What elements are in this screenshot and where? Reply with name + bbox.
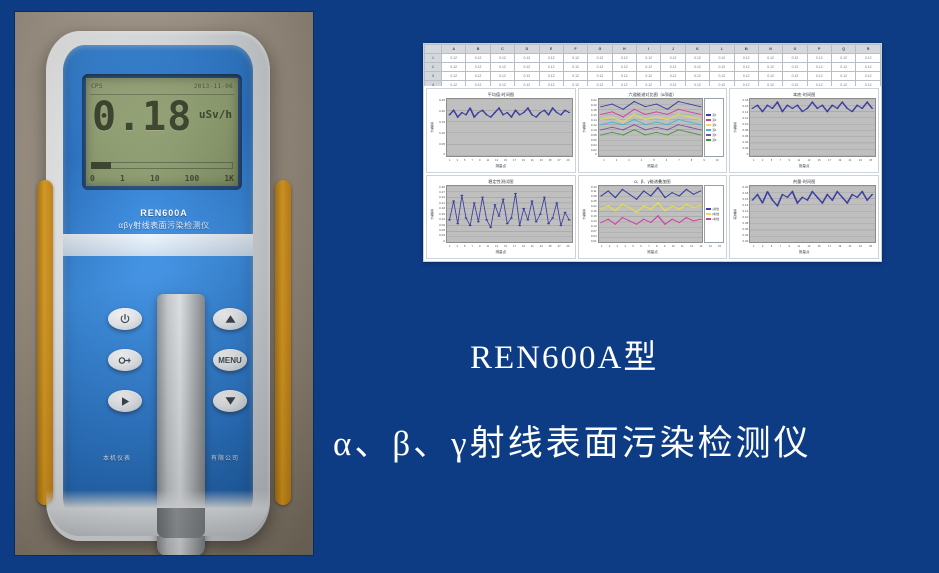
chart-legend-item: 道2: [706, 118, 722, 122]
spreadsheet-cell[interactable]: 0.12: [710, 72, 734, 81]
spreadsheet-cell[interactable]: 0.12: [685, 63, 709, 72]
caption-model: REN600A型: [470, 330, 900, 378]
chart-data-point: [836, 191, 838, 192]
spreadsheet-col-header[interactable]: L: [710, 45, 734, 54]
spreadsheet-col-header[interactable]: A: [442, 45, 466, 54]
chart-y-tick: 0.10: [587, 224, 597, 228]
chart-y-tick: 0.14: [738, 203, 748, 207]
chart-y-tick: 0.22: [587, 204, 597, 208]
chart-y-tick: 0.02: [738, 146, 748, 150]
spreadsheet-row-header[interactable]: 3: [425, 72, 442, 81]
spreadsheet-cell[interactable]: 0.12: [515, 72, 539, 81]
spreadsheet-cell[interactable]: 0.12: [490, 81, 514, 87]
spreadsheet-cell[interactable]: 0.12: [539, 81, 563, 87]
chart-y-tick: 0.04: [587, 143, 597, 147]
chart-data-point: [822, 105, 824, 106]
chart-data-point: [699, 124, 701, 125]
chart-data-point: [490, 117, 492, 118]
spreadsheet-cell[interactable]: 0.12: [563, 63, 587, 72]
chart-data-point: [692, 193, 694, 194]
down-button[interactable]: [213, 390, 247, 412]
play-button[interactable]: [108, 390, 142, 412]
spreadsheet-cell[interactable]: 0.12: [466, 63, 490, 72]
chart-y-tick: 0.14: [738, 110, 748, 114]
spreadsheet-cell[interactable]: 0.12: [807, 72, 831, 81]
chart-data-point: [685, 203, 687, 204]
chart-y-tick: 0.06: [435, 228, 445, 232]
chart-y-tick: 0.12: [435, 217, 445, 221]
chart-panel: 稳定性测试图计数率0.300.270.240.210.180.150.120.0…: [426, 175, 576, 260]
chart-y-tick: 0.09: [435, 223, 445, 227]
chart-x-tick: 1: [449, 159, 450, 162]
chart-title: 平均值-时间图: [429, 91, 573, 98]
spreadsheet-col-header[interactable]: H: [612, 45, 636, 54]
spreadsheet-cell[interactable]: 0.12: [637, 54, 661, 63]
chart-y-tick: 0.30: [435, 185, 445, 189]
spreadsheet-col-header[interactable]: N: [758, 45, 782, 54]
chart-y-tick: 0.02: [587, 148, 597, 152]
spreadsheet-cell[interactable]: 0.12: [515, 63, 539, 72]
spreadsheet-cell[interactable]: 0.12: [563, 72, 587, 81]
spreadsheet-cell[interactable]: 0.12: [637, 63, 661, 72]
spreadsheet-cell[interactable]: 0.12: [539, 54, 563, 63]
spreadsheet-table: ABCDEFGHIJKLMNOPQR10.120.120.120.120.120…: [424, 44, 881, 86]
chart-x-axis-label: 测量点: [581, 250, 725, 256]
chart-data-point: [543, 110, 545, 111]
chart-data-point: [628, 220, 630, 221]
chart-x-tick: 21: [849, 159, 852, 162]
chart-y-tick: 0.22: [587, 98, 597, 102]
chart-legend-item: γ射线: [706, 207, 722, 211]
chart-data-point: [861, 108, 863, 109]
chart-y-axis-label: 计数率: [732, 98, 738, 157]
spreadsheet-col-header[interactable]: O: [783, 45, 807, 54]
chart-y-tick: 0.28: [587, 194, 597, 198]
spreadsheet-cell[interactable]: 0.12: [612, 54, 636, 63]
spreadsheet-cell[interactable]: 0.12: [637, 81, 661, 87]
chart-data-point: [633, 109, 635, 110]
chart-series-line: [753, 102, 873, 111]
spreadsheet-cell[interactable]: 0.12: [832, 63, 856, 72]
spreadsheet-cell[interactable]: 0.12: [442, 54, 466, 63]
spreadsheet-cell[interactable]: 0.12: [685, 72, 709, 81]
spreadsheet-col-header[interactable]: K: [685, 45, 709, 54]
spreadsheet-cell[interactable]: 0.12: [710, 63, 734, 72]
chart-data-point: [614, 197, 616, 198]
spreadsheet-corner: [425, 45, 442, 54]
spreadsheet-cell[interactable]: 0.12: [661, 81, 685, 87]
chart-data-point: [678, 208, 680, 209]
chart-data-point: [757, 193, 759, 194]
chart-y-tick: 0.10: [738, 215, 748, 219]
spreadsheet-col-header[interactable]: E: [539, 45, 563, 54]
spreadsheet-cell[interactable]: 0.12: [588, 72, 612, 81]
search-button[interactable]: [108, 349, 142, 371]
chart-data-point: [655, 127, 657, 128]
chart-y-tick: 0.21: [435, 201, 445, 205]
chart-data-point: [807, 108, 809, 109]
spreadsheet-cell[interactable]: 0.12: [734, 72, 758, 81]
chart-y-tick: 0.08: [587, 133, 597, 137]
chart-data-point: [655, 111, 657, 112]
chart-x-tick: 17: [828, 159, 831, 162]
chart-legend-label: γ射线: [712, 207, 718, 211]
chart-y-tick: 0.10: [587, 128, 597, 132]
chart-data-point: [498, 108, 500, 109]
spreadsheet-cell[interactable]: 0.12: [661, 72, 685, 81]
chart-y-tick: 0.12: [587, 123, 597, 127]
spreadsheet-cell[interactable]: 0.12: [685, 81, 709, 87]
spreadsheet-cell[interactable]: 0.12: [490, 63, 514, 72]
chart-x-tick: 23: [540, 245, 543, 248]
chart-y-tick: 0.20: [435, 109, 445, 113]
chart-data-point: [762, 111, 764, 112]
chart-data-point: [635, 212, 637, 213]
spreadsheet-cell[interactable]: 0.12: [807, 63, 831, 72]
spreadsheet-row-header[interactable]: 1: [425, 54, 442, 63]
spreadsheet-cell[interactable]: 0.12: [466, 81, 490, 87]
chart-x-tick: 7: [678, 159, 679, 162]
chart-data-point: [452, 110, 454, 111]
chart-x-tick: 9: [479, 245, 480, 248]
chart-x-tick: 5: [653, 159, 654, 162]
triangle-up-icon: [224, 314, 237, 324]
chart-y-tick: 0.34: [587, 185, 597, 189]
chart-data-point: [607, 205, 609, 206]
chart-y-tick: 0: [435, 152, 445, 156]
spreadsheet-col-header[interactable]: C: [490, 45, 514, 54]
spreadsheet-cell[interactable]: 0.12: [442, 63, 466, 72]
lcd-date-label: 2013-11-06: [194, 83, 233, 90]
spreadsheet-col-header[interactable]: Q: [832, 45, 856, 54]
chart-legend-label: 道3: [712, 123, 716, 127]
chart-data-point: [633, 119, 635, 120]
chart-data-point: [752, 199, 754, 200]
chart-legend-swatch: [706, 139, 711, 142]
spreadsheet-cell[interactable]: 0.12: [515, 54, 539, 63]
chart-plot-area: [598, 185, 704, 244]
chart-y-tick: 0.18: [587, 108, 597, 112]
chart-data-point: [846, 108, 848, 109]
spreadsheet-row: 20.120.120.120.120.120.120.120.120.120.1…: [425, 63, 881, 72]
spreadsheet-cell[interactable]: 0.12: [734, 81, 758, 87]
spreadsheet-cell[interactable]: 0.12: [490, 54, 514, 63]
chart-data-point: [621, 188, 623, 189]
spreadsheet-row: 30.120.120.120.120.120.120.120.120.120.1…: [425, 72, 881, 81]
chart-legend-label: 道5: [712, 133, 716, 137]
power-button[interactable]: [108, 308, 142, 330]
spreadsheet-cell[interactable]: 0.12: [466, 54, 490, 63]
chart-x-tick: 9: [703, 159, 704, 162]
software-screenshot-panel: ABCDEFGHIJKLMNOPQR10.120.120.120.120.120…: [423, 43, 882, 262]
spreadsheet-cell[interactable]: 0.12: [588, 63, 612, 72]
chart-x-tick: 1: [601, 245, 602, 248]
chart-x-tick: 11: [681, 245, 684, 248]
device-subtitle-label: αβγ射线表面污染检测仪: [15, 220, 313, 231]
spreadsheet-cell[interactable]: 0.12: [661, 63, 685, 72]
chart-x-tick: 15: [818, 159, 821, 162]
chart-x-tick: 4: [624, 245, 625, 248]
spreadsheet-cell[interactable]: 0.12: [758, 63, 782, 72]
chart-y-tick: 0.18: [738, 191, 748, 195]
chart-data-point: [600, 208, 602, 209]
spreadsheet-row-header[interactable]: 2: [425, 63, 442, 72]
chart-data-point: [547, 114, 549, 115]
chart-data-point: [655, 122, 657, 123]
chart-data-point: [457, 117, 459, 118]
chart-series-line: [449, 193, 569, 227]
spreadsheet-cell[interactable]: 0.12: [710, 54, 734, 63]
spreadsheet-col-header[interactable]: I: [637, 45, 661, 54]
spreadsheet-cell[interactable]: 0.12: [442, 81, 466, 87]
chart-x-ticks: 12345678910: [598, 157, 725, 164]
spreadsheet-cell[interactable]: 0.12: [539, 72, 563, 81]
chart-x-tick: 25: [549, 245, 552, 248]
chart-data-point: [611, 104, 613, 105]
chart-legend-item: 道1: [706, 113, 722, 117]
spreadsheet-cell[interactable]: 0.12: [832, 72, 856, 81]
chart-data-point: [600, 124, 602, 125]
chart-x-tick: 13: [807, 245, 810, 248]
device-handle-foot: [157, 508, 205, 538]
chart-data-point: [787, 196, 789, 197]
chart-data-point: [841, 102, 843, 103]
chart-plot-area: [446, 98, 573, 157]
lcd-bargraph: [91, 162, 233, 169]
chart-data-point: [644, 119, 646, 120]
chart-data-point: [642, 205, 644, 206]
chart-data-point: [657, 215, 659, 216]
spreadsheet-col-header[interactable]: J: [661, 45, 685, 54]
chart-legend-label: 道1: [712, 113, 716, 117]
spreadsheet-col-header[interactable]: R: [856, 45, 881, 54]
spreadsheet-cell[interactable]: 0.12: [637, 72, 661, 81]
chart-x-tick: 1: [603, 159, 604, 162]
chart-body: 计数率0.300.270.240.210.180.150.120.090.060…: [429, 185, 573, 244]
chart-x-tick: 10: [672, 245, 675, 248]
spreadsheet-cell[interactable]: 0.12: [539, 63, 563, 72]
chart-data-point: [600, 134, 602, 135]
chart-y-tick: 0: [738, 152, 748, 156]
chart-legend-label: α射线: [712, 217, 719, 221]
chart-data-point: [699, 129, 701, 130]
chart-data-point: [622, 134, 624, 135]
chart-data-point: [671, 192, 673, 193]
triangle-down-icon: [224, 396, 237, 406]
chart-data-point: [678, 195, 680, 196]
spreadsheet-cell[interactable]: 0.12: [807, 54, 831, 63]
chart-data-point: [767, 105, 769, 106]
chart-data-point: [666, 109, 668, 110]
chart-x-tick: 19: [522, 245, 525, 248]
spreadsheet-cell[interactable]: 0.12: [783, 72, 807, 81]
chart-y-axis-label: 计数率: [429, 185, 435, 244]
spreadsheet-cell[interactable]: 0.12: [563, 54, 587, 63]
chart-x-tick: 15: [718, 245, 721, 248]
spreadsheet-cell[interactable]: 0.12: [685, 54, 709, 63]
chart-data-point: [827, 193, 829, 194]
spreadsheet-cell[interactable]: 0.12: [612, 81, 636, 87]
spreadsheet-cell[interactable]: 0.12: [783, 63, 807, 72]
spreadsheet-region: ABCDEFGHIJKLMNOPQR10.120.120.120.120.120…: [424, 44, 881, 86]
spreadsheet-col-header[interactable]: D: [515, 45, 539, 54]
spreadsheet-cell[interactable]: 0.12: [758, 54, 782, 63]
chart-body: 计数率0.250.200.150.100.050: [429, 98, 573, 157]
spreadsheet-col-header[interactable]: G: [588, 45, 612, 54]
chart-y-tick: 0.18: [738, 98, 748, 102]
chart-x-tick: 12: [690, 245, 693, 248]
chart-data-point: [664, 223, 666, 224]
chart-data-point: [628, 193, 630, 194]
chart-legend-swatch: [706, 114, 711, 117]
chart-data-point: [688, 111, 690, 112]
spreadsheet-cell[interactable]: 0.12: [856, 81, 881, 87]
chart-data-point: [685, 217, 687, 218]
chart-data-point: [514, 110, 516, 111]
chart-x-tick: 13: [495, 159, 498, 162]
chart-y-tick: 0.24: [435, 195, 445, 199]
chart-x-tick: 21: [531, 159, 534, 162]
spreadsheet-col-header[interactable]: M: [734, 45, 758, 54]
chart-x-tick: 4: [641, 159, 642, 162]
spreadsheet-cell[interactable]: 0.12: [563, 81, 587, 87]
chart-x-tick: 7: [648, 245, 649, 248]
spreadsheet-cell[interactable]: 0.12: [442, 72, 466, 81]
chart-series-line: [753, 191, 873, 205]
spreadsheet-cell[interactable]: 0.12: [807, 81, 831, 87]
chart-data-point: [607, 190, 609, 191]
spreadsheet-cell[interactable]: 0.12: [856, 54, 881, 63]
chart-y-tick: 0.10: [435, 131, 445, 135]
menu-button[interactable]: MENU: [213, 349, 247, 371]
chart-x-tick: 5: [771, 245, 772, 248]
spreadsheet-cell[interactable]: 0.12: [783, 81, 807, 87]
chart-y-axis-label: 计数率: [429, 98, 435, 157]
chart-x-tick: 2: [616, 159, 617, 162]
chart-plot-area: [598, 98, 704, 157]
chart-x-tick: 13: [699, 245, 702, 248]
chart-y-ticks: 0.220.200.180.160.140.120.100.080.060.04…: [587, 98, 598, 157]
chart-data-point: [678, 222, 680, 223]
chart-data-point: [644, 124, 646, 125]
chart-data-point: [650, 222, 652, 223]
chart-data-point: [473, 117, 475, 118]
chart-y-tick: 0.14: [587, 118, 597, 122]
chart-series-line: [601, 125, 701, 130]
chart-x-tick: 7: [780, 159, 781, 162]
spreadsheet-row-header[interactable]: 4: [425, 81, 442, 87]
chart-x-tick: 21: [849, 245, 852, 248]
chart-data-point: [772, 108, 774, 109]
chart-x-tick: 3: [457, 245, 458, 248]
chart-data-point: [677, 119, 679, 120]
spreadsheet-cell[interactable]: 0.12: [588, 54, 612, 63]
spreadsheet-col-header[interactable]: P: [807, 45, 831, 54]
chart-y-tick: 0.13: [587, 219, 597, 223]
chart-x-tick: 23: [859, 245, 862, 248]
chart-x-axis-label: 测量点: [429, 164, 573, 170]
chart-data-point: [856, 105, 858, 106]
chart-svg: [750, 186, 875, 243]
spreadsheet-cell[interactable]: 0.12: [758, 81, 782, 87]
lcd-status-row: CPS 2013-11-06: [91, 80, 233, 93]
chart-y-tick: 0.18: [435, 206, 445, 210]
spreadsheet-cell[interactable]: 0.12: [612, 72, 636, 81]
chart-panel: α、β、γ能谱叠加图计数率0.340.310.280.250.220.190.1…: [578, 175, 728, 260]
chart-data-point: [481, 110, 483, 111]
chart-x-axis-label: 测量点: [429, 250, 573, 256]
chart-data-point: [642, 190, 644, 191]
chart-data-point: [664, 197, 666, 198]
spreadsheet-cell[interactable]: 0.12: [832, 81, 856, 87]
spreadsheet-cell[interactable]: 0.12: [783, 54, 807, 63]
spreadsheet-cell[interactable]: 0.12: [856, 63, 881, 72]
spreadsheet-col-header[interactable]: B: [466, 45, 490, 54]
spreadsheet-cell[interactable]: 0.12: [856, 72, 881, 81]
spreadsheet-col-header[interactable]: F: [563, 45, 587, 54]
chart-data-point: [677, 101, 679, 102]
chart-data-point: [797, 105, 799, 106]
spreadsheet-cell[interactable]: 0.12: [515, 81, 539, 87]
spreadsheet-cell[interactable]: 0.12: [661, 54, 685, 63]
spreadsheet-cell[interactable]: 0.12: [612, 63, 636, 72]
chart-y-tick: 0.27: [435, 190, 445, 194]
chart-x-tick: 9: [479, 159, 480, 162]
chart-data-point: [657, 202, 659, 203]
chart-plot-area: [749, 98, 876, 157]
chart-x-tick: 17: [513, 245, 516, 248]
chart-series-line: [601, 120, 701, 125]
charts-grid: 平均值-时间图计数率0.250.200.150.100.050135791113…: [424, 86, 881, 261]
spreadsheet-cell[interactable]: 0.12: [734, 54, 758, 63]
chart-data-point: [782, 193, 784, 194]
chart-x-tick: 17: [828, 245, 831, 248]
up-button[interactable]: [213, 308, 247, 330]
spreadsheet-cell[interactable]: 0.12: [588, 81, 612, 87]
chart-y-tick: 0.20: [738, 185, 748, 189]
spreadsheet-cell[interactable]: 0.12: [710, 81, 734, 87]
chart-data-point: [871, 108, 873, 109]
chart-legend-item: 道4: [706, 128, 722, 132]
chart-data-point: [527, 108, 529, 109]
chart-data-point: [657, 187, 659, 188]
chart-x-tick: 1: [753, 159, 754, 162]
chart-data-point: [494, 112, 496, 113]
chart-data-point: [792, 191, 794, 192]
spreadsheet-cell[interactable]: 0.12: [832, 54, 856, 63]
chart-legend-swatch: [706, 124, 711, 127]
spreadsheet-cell[interactable]: 0.12: [734, 63, 758, 72]
chart-y-tick: 0.02: [738, 239, 748, 243]
chart-data-point: [633, 124, 635, 125]
spreadsheet-cell[interactable]: 0.12: [466, 72, 490, 81]
spreadsheet-cell[interactable]: 0.12: [490, 72, 514, 81]
spreadsheet-cell[interactable]: 0.12: [758, 72, 782, 81]
device-model-label: REN600A: [15, 208, 313, 218]
chart-body: 计数率0.340.310.280.250.220.190.160.130.100…: [581, 185, 725, 244]
chart-legend-swatch: [706, 213, 711, 216]
chart-x-tick: 5: [632, 245, 633, 248]
chart-data-point: [622, 129, 624, 130]
chart-x-tick: 11: [486, 245, 489, 248]
chart-data-point: [465, 114, 467, 115]
chart-data-point: [836, 108, 838, 109]
chart-data-point: [600, 195, 602, 196]
chart-x-tick: 19: [838, 159, 841, 162]
chart-data-point: [448, 114, 450, 115]
chart-y-tick: 0.16: [587, 214, 597, 218]
chart-data-point: [846, 202, 848, 203]
